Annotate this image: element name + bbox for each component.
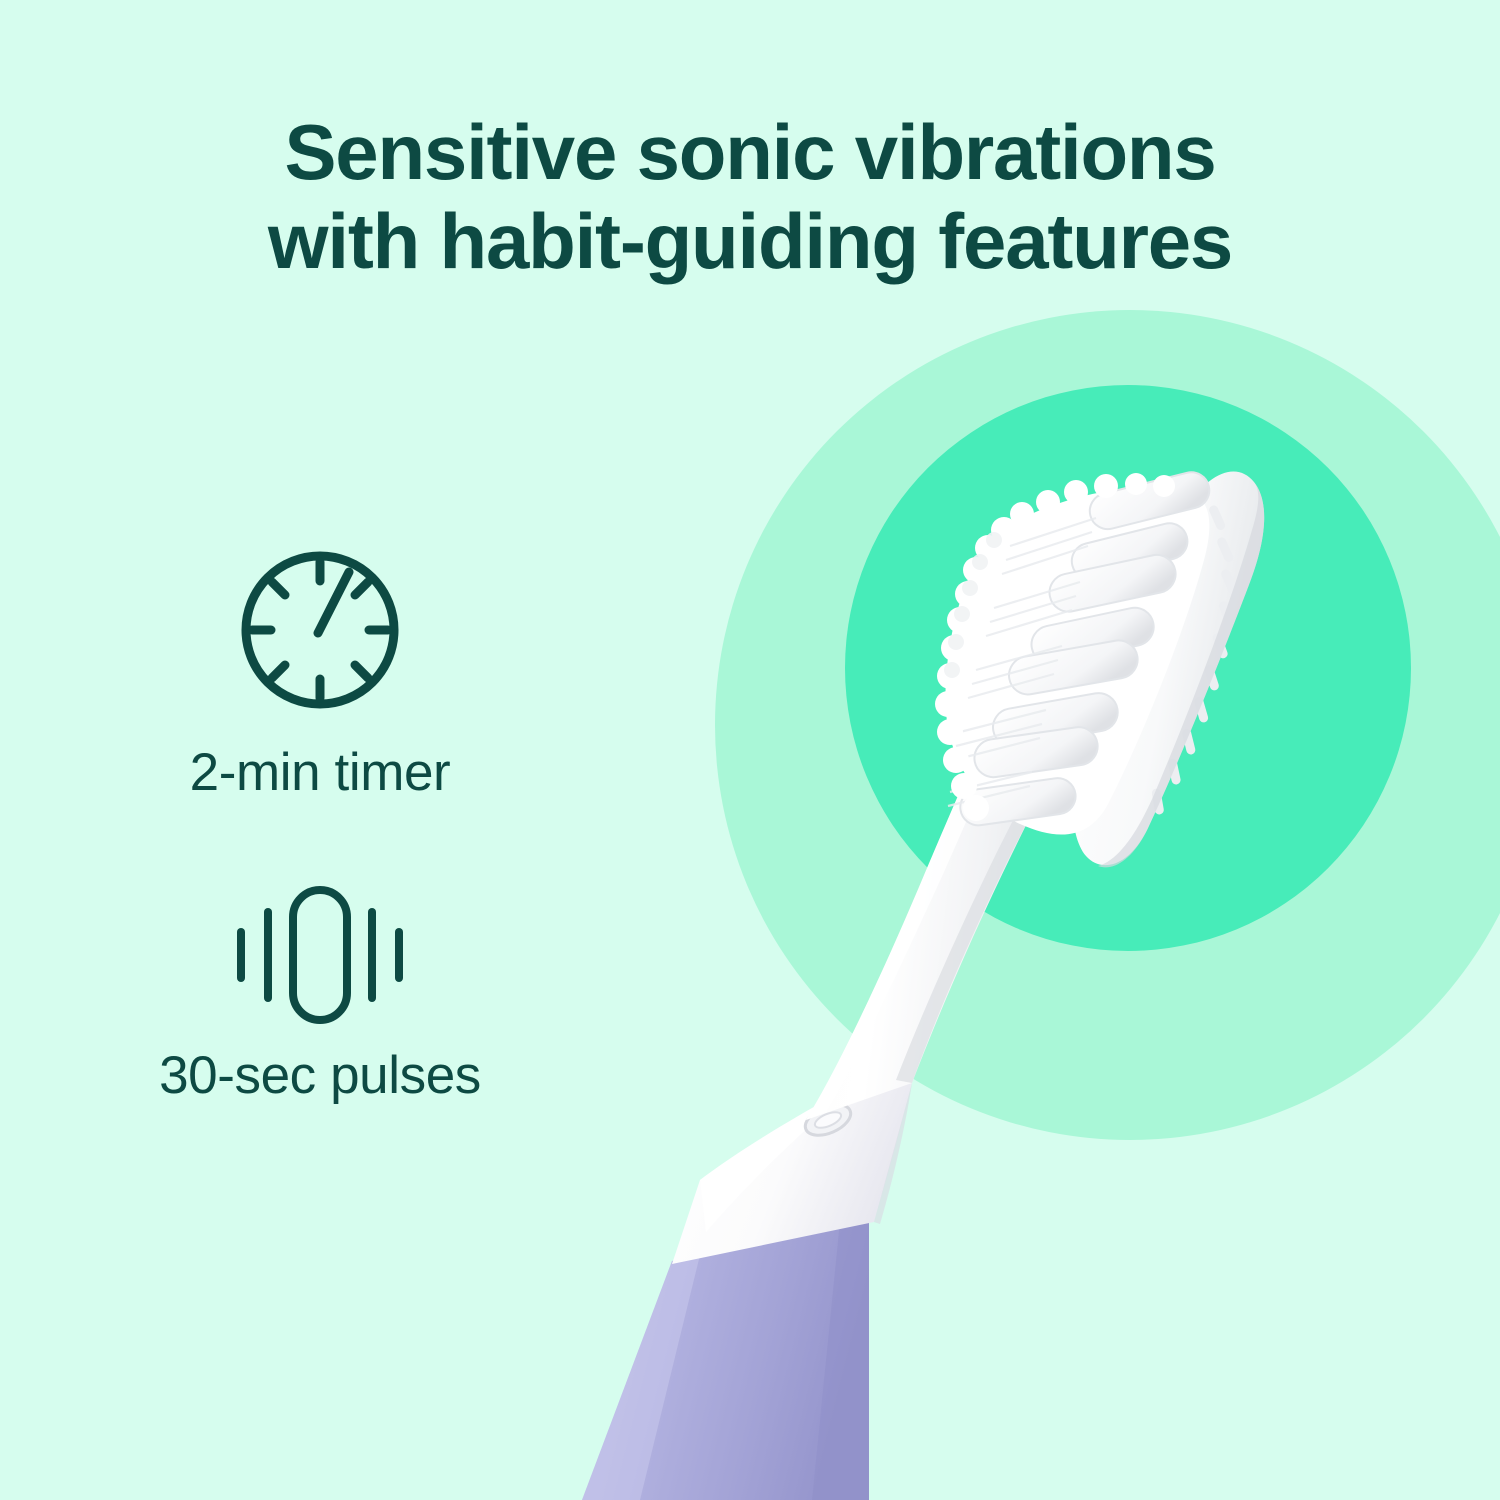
- handle-lavender-body: [582, 1215, 869, 1500]
- pulse-capsule: [293, 890, 347, 1020]
- page-title-line-1: Sensitive sonic vibrations: [0, 108, 1500, 197]
- clock-icon-wrapper: [0, 540, 640, 720]
- power-button[interactable]: [801, 1099, 855, 1142]
- feature-label-timer: 2-min timer: [0, 742, 640, 803]
- power-icon: [813, 1109, 843, 1131]
- vibration-pulse-icon-wrapper: [0, 880, 640, 1030]
- product-feature-graphic: Sensitive sonic vibrations with habit-gu…: [0, 0, 1500, 1500]
- accent-circle-backdrop: [845, 385, 1411, 951]
- clock-icon: [230, 540, 410, 720]
- feature-list: 2-min timer 30-sec pulse: [0, 540, 640, 1180]
- feature-item-timer: 2-min timer: [0, 540, 640, 880]
- vibration-pulse-icon: [220, 880, 420, 1030]
- page-title: Sensitive sonic vibrations with habit-gu…: [0, 108, 1500, 286]
- feature-item-pulses: 30-sec pulses: [0, 880, 640, 1180]
- pulse-waves: [241, 912, 399, 998]
- page-title-line-2: with habit-guiding features: [0, 197, 1500, 286]
- feature-label-pulses: 30-sec pulses: [0, 1045, 640, 1106]
- handle-white-collar: [672, 1083, 912, 1264]
